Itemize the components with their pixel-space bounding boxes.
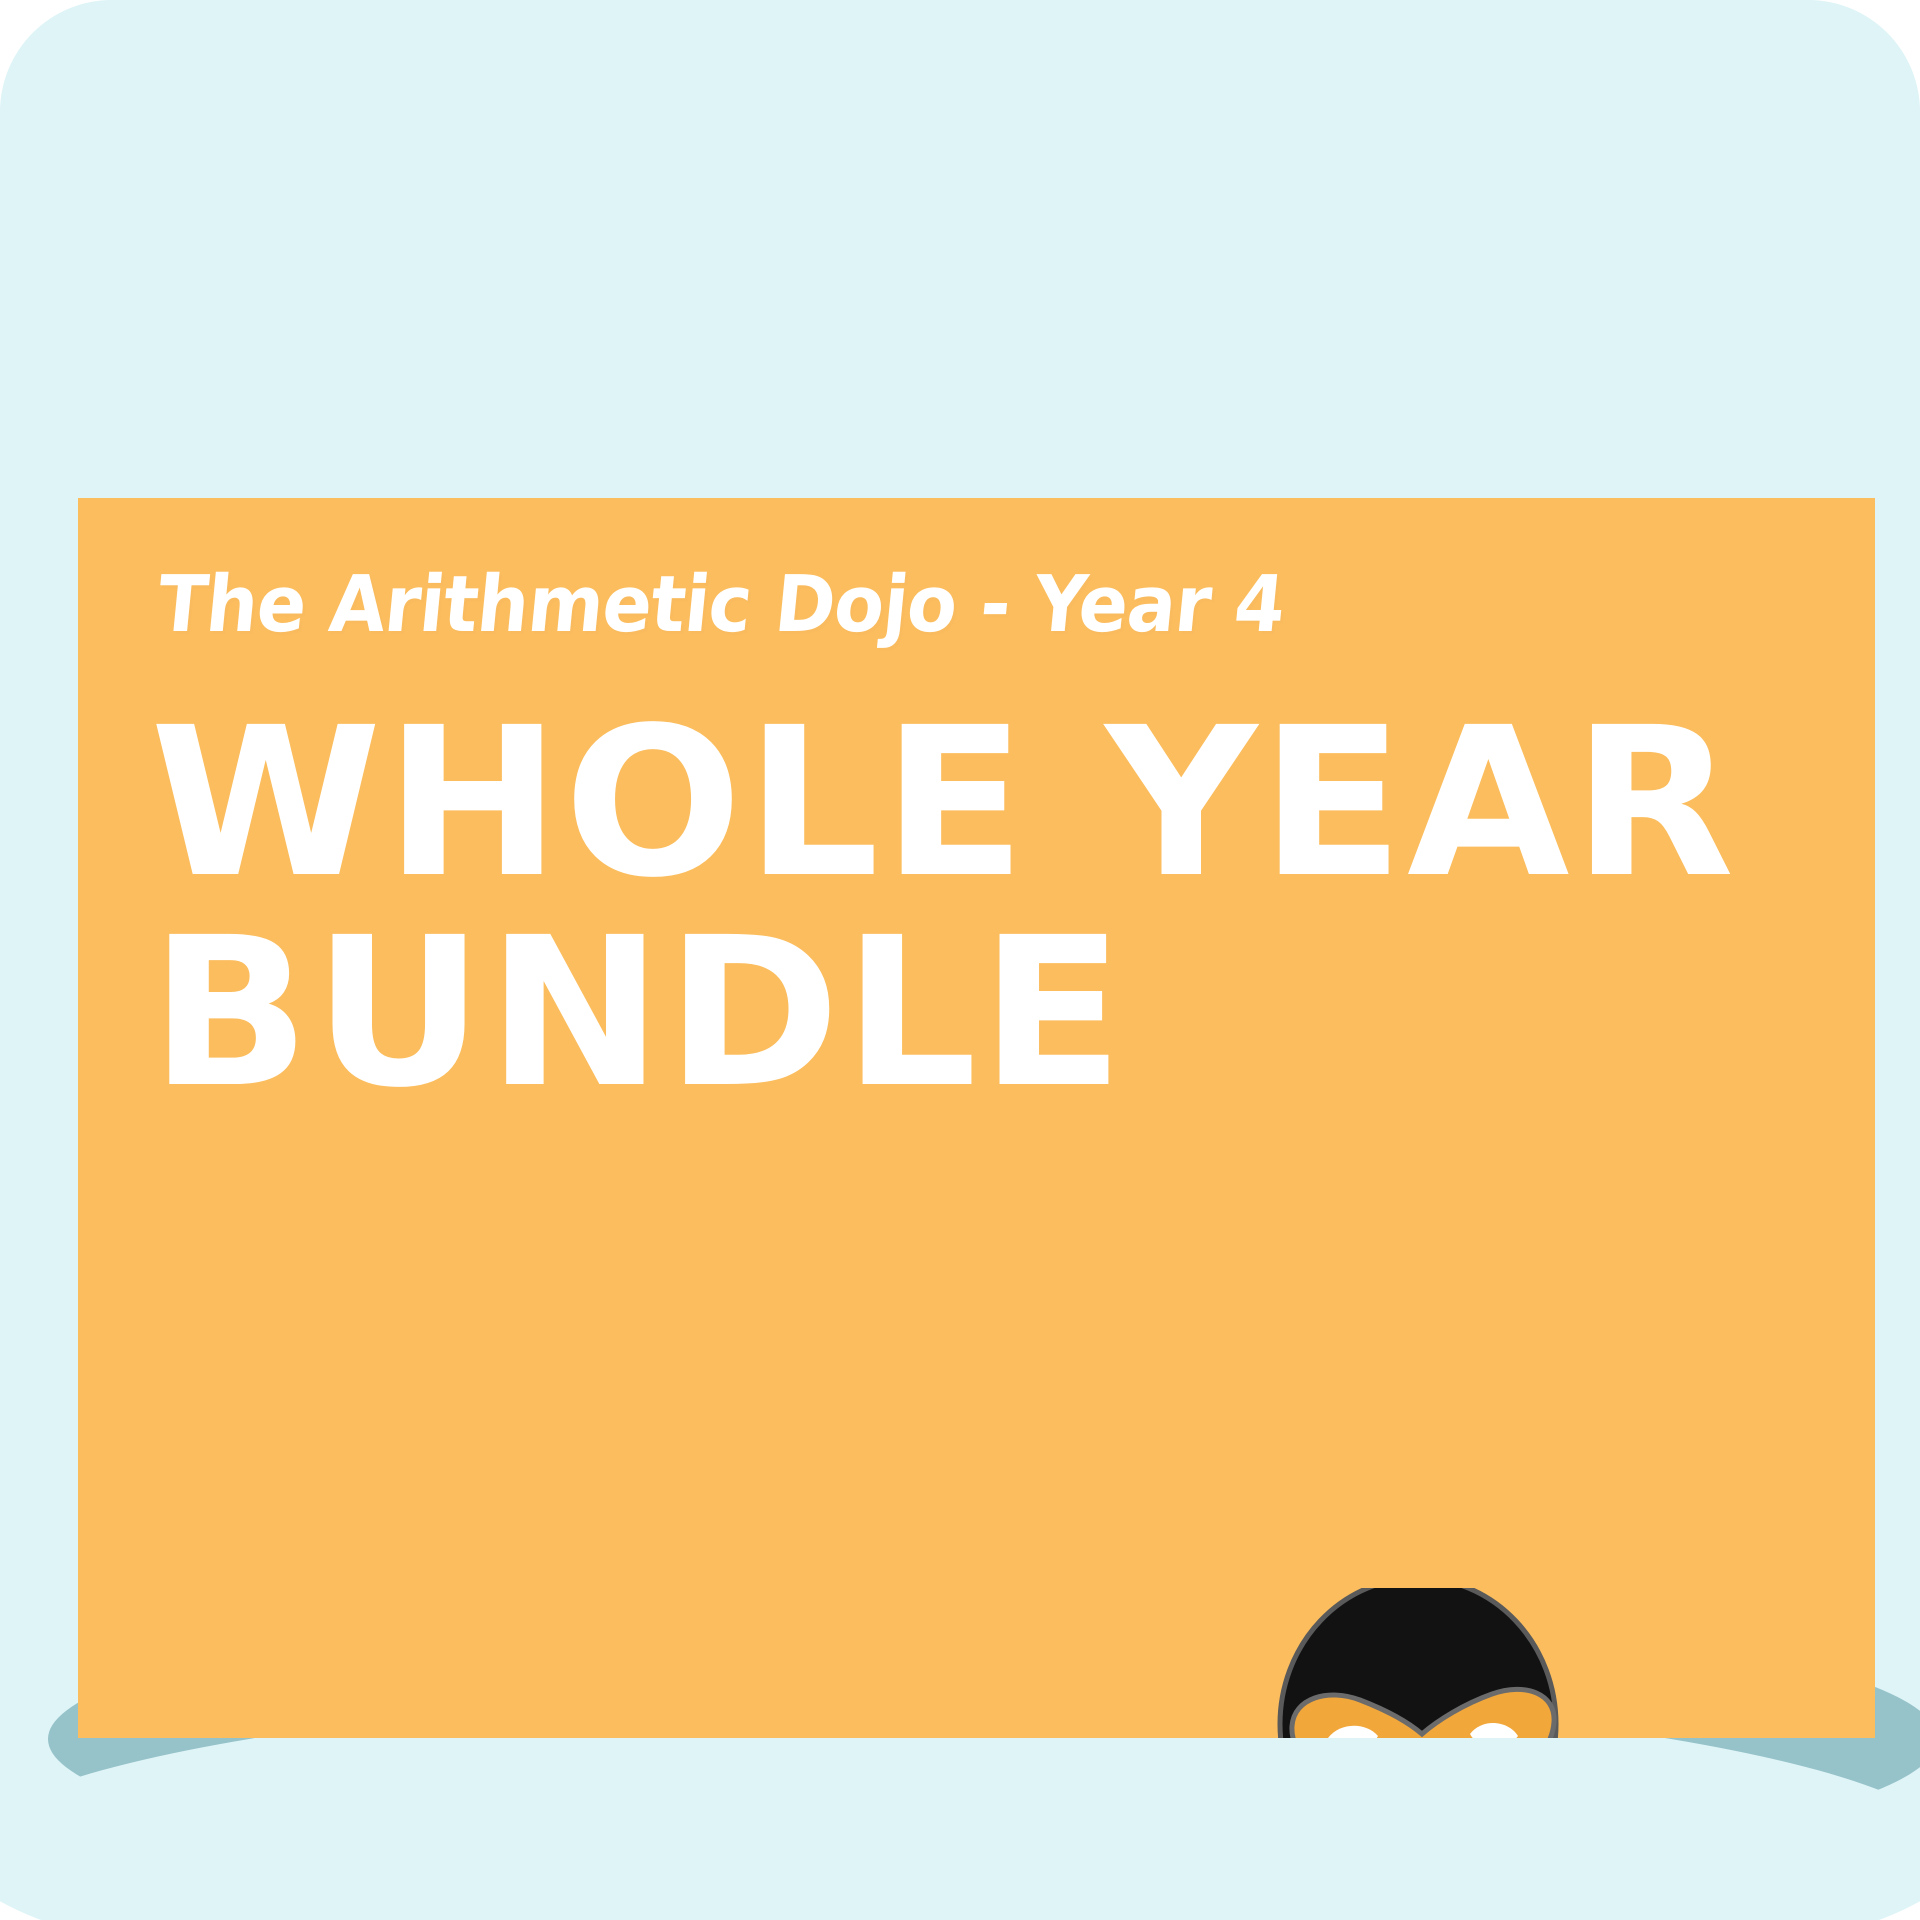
poster-stage: The Arithmetic Dojo - Year 4 WHOLE YEAR …: [0, 0, 1920, 1920]
page-title-line-1: WHOLE YEAR: [150, 698, 1496, 908]
ninja-mascot-illustration: 7 8 9 + 4 5 6 − 1 2 3 × 0 . %: [1078, 1588, 1875, 1738]
ninja-head: [1280, 1588, 1556, 1738]
page-title-line-2: BUNDLE: [150, 908, 1496, 1118]
page-title: WHOLE YEAR BUNDLE: [150, 698, 1496, 1118]
product-card: The Arithmetic Dojo - Year 4 WHOLE YEAR …: [78, 498, 1875, 1738]
brand-title: The Arithmetic Dojo - Year 4: [154, 560, 1289, 650]
